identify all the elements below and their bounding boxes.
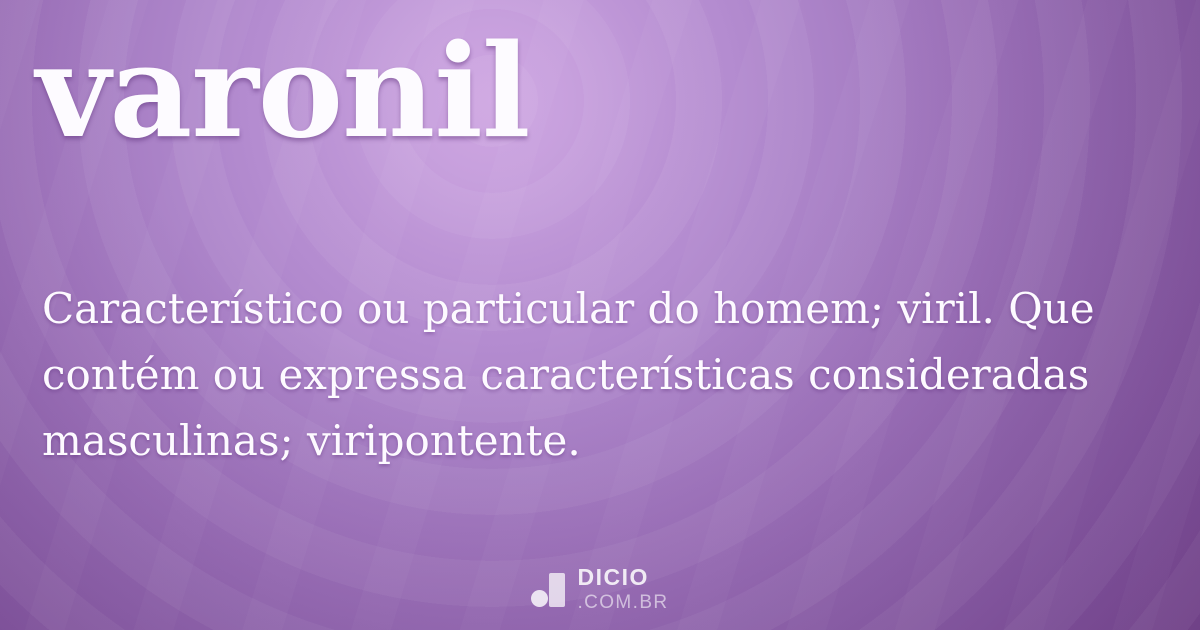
dicio-logo-icon	[531, 569, 565, 609]
page-title: varonil	[36, 28, 529, 156]
brand-wordmark: DICIO .COM.BR	[577, 566, 668, 612]
bar-mark-icon	[549, 573, 565, 607]
brand-tld: .COM.BR	[577, 593, 668, 612]
brand-logo[interactable]: DICIO .COM.BR	[0, 566, 1200, 612]
brand-name: DICIO	[577, 566, 668, 589]
dicio-word-card: varonil Característico ou particular do …	[0, 0, 1200, 630]
circle-mark-icon	[531, 590, 548, 607]
definition-text: Característico ou particular do homem; v…	[42, 276, 1102, 474]
